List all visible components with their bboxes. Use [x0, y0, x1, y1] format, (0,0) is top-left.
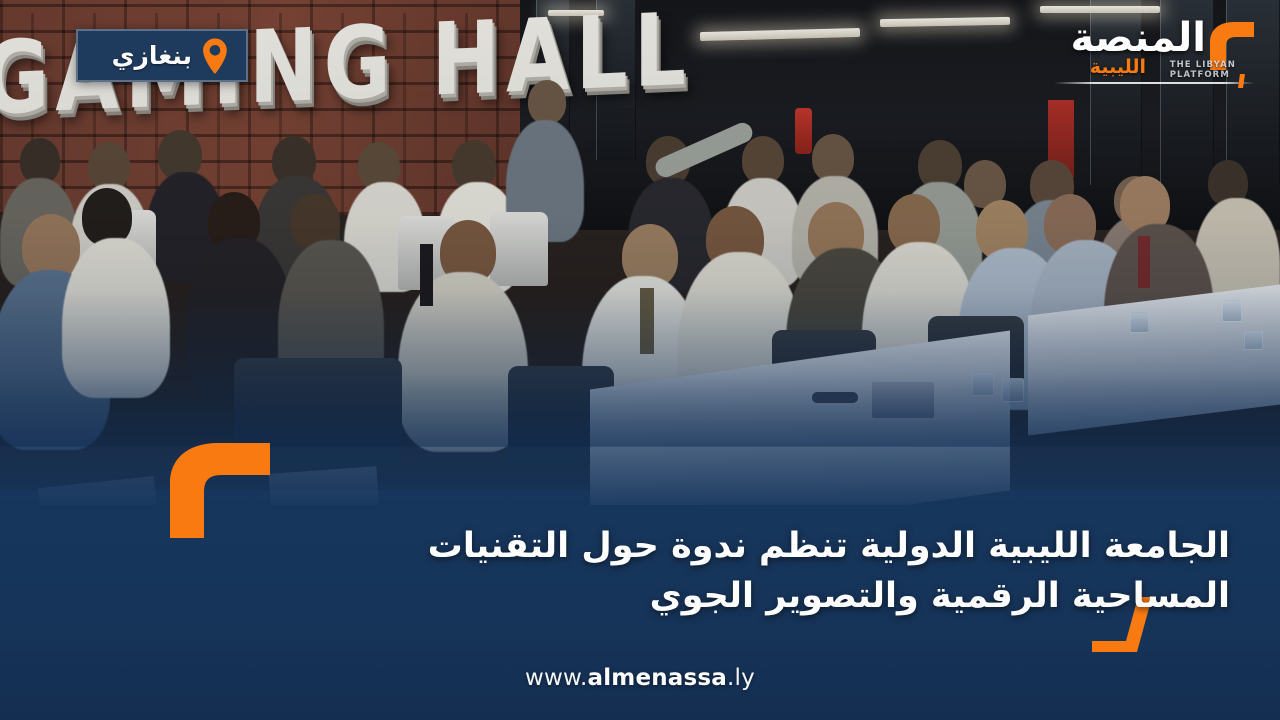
url-suffix: .ly [727, 665, 755, 691]
location-label: بنغازي [112, 43, 192, 68]
logo-english: THE LIBYAN PLATFORM [1170, 60, 1236, 80]
url-name: almenassa [587, 665, 727, 691]
logo-english-line2: PLATFORM [1170, 70, 1236, 80]
location-badge: بنغازي [76, 29, 248, 82]
location-pin-icon [200, 37, 230, 75]
logo-underline [1054, 82, 1254, 84]
social-news-card: GAMING HALL [0, 0, 1280, 720]
logo-arabic-main: المنصة [1070, 18, 1206, 58]
site-url: www.almenassa.ly [0, 667, 1280, 690]
orange-corner-bracket-icon [160, 443, 270, 538]
logo-arabic-sub: الليبية [1090, 58, 1146, 77]
logo-tick-mark [1238, 74, 1245, 88]
site-logo: المنصة الليبية THE LIBYAN PLATFORM [1043, 16, 1258, 96]
headline-text: الجامعة الليبية الدولية تنظم ندوة حول ال… [370, 521, 1230, 621]
url-prefix: www. [525, 665, 587, 691]
logo-english-line1: THE LIBYAN [1170, 60, 1236, 70]
